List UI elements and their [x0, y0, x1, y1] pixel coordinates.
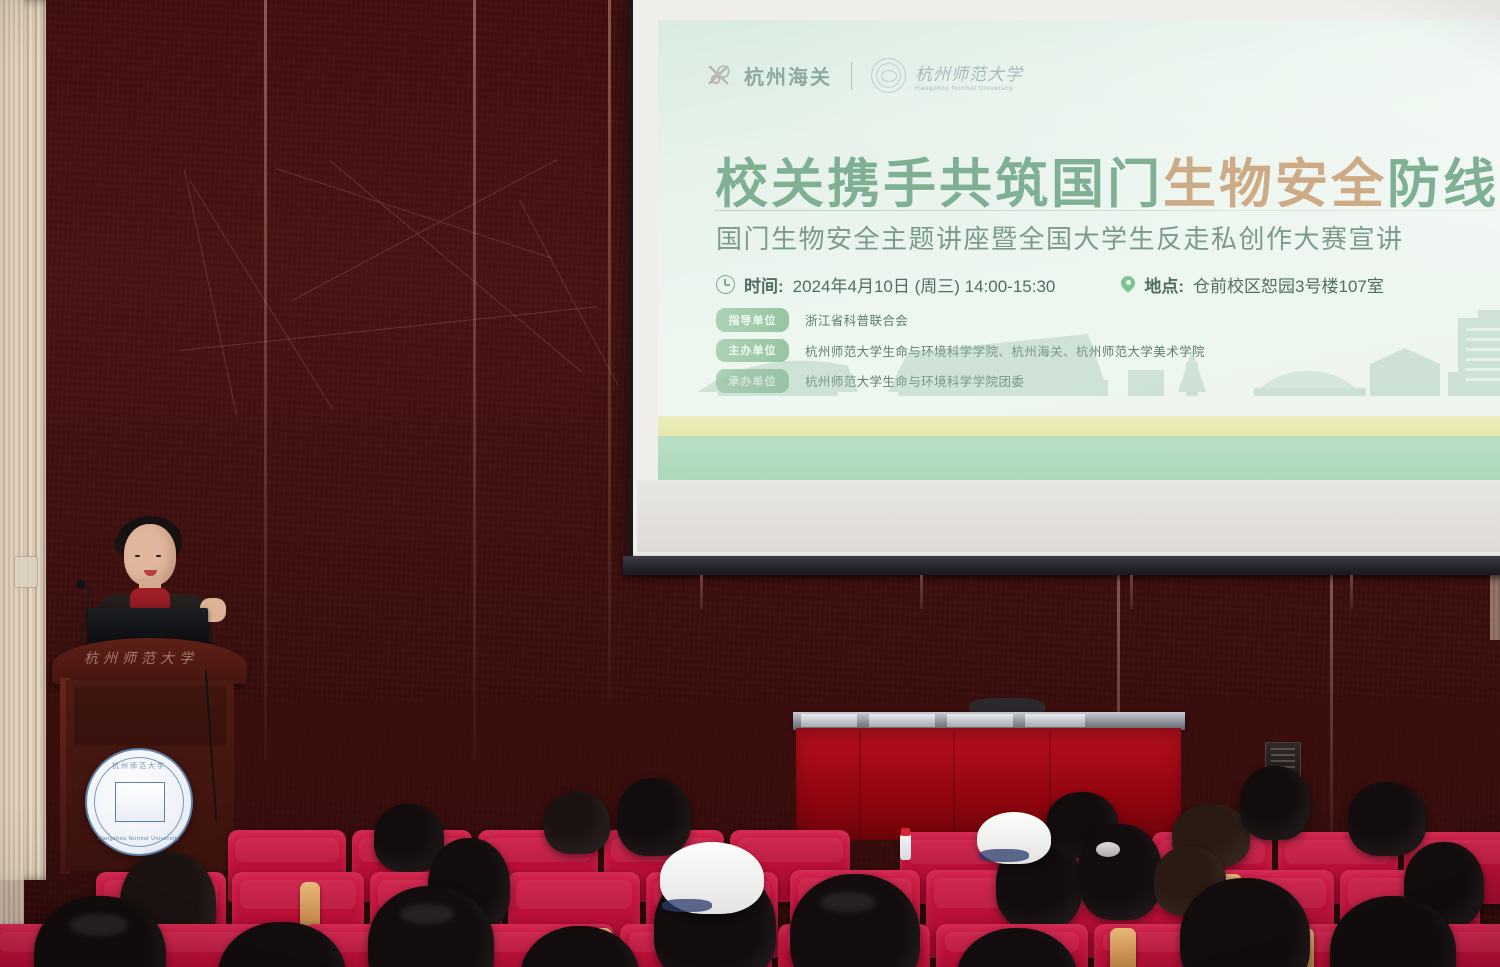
podium-engraving: 杭州师范大学	[66, 648, 216, 668]
audience-seating	[0, 746, 1500, 967]
slide-time-item: 时间:2024年4月10日 (周三) 14:00-15:30	[716, 272, 1055, 297]
title-divider-rule	[715, 210, 1495, 211]
slide-band-yellow	[658, 416, 1500, 438]
hznu-logo-label-cn: 杭州师范大学	[915, 60, 1023, 85]
hznu-logo: 杭州师范大学 Hangzhou Normal University	[871, 58, 1023, 93]
hair-accessory	[1096, 842, 1120, 857]
table-top-segment	[1025, 714, 1085, 727]
slide-band-green	[658, 436, 1500, 480]
table-top-segment	[869, 714, 935, 727]
audience-head	[544, 792, 610, 854]
location-pin-icon	[1121, 276, 1135, 294]
hangzhou-customs-logo: 杭州海关	[704, 60, 832, 91]
screen-support-leg	[700, 575, 703, 609]
audience-head	[1078, 824, 1162, 920]
logo-divider	[851, 62, 852, 90]
hznu-logo-text-group: 杭州师范大学 Hangzhou Normal University	[915, 60, 1023, 92]
baseball-cap-foreground	[660, 842, 764, 914]
place-label: 地点:	[1144, 272, 1184, 297]
lecture-hall-photo: 杭州海关 杭州师范大学 Hangzhou Normal University 国…	[0, 0, 1500, 967]
microphone-head-icon	[76, 580, 85, 589]
hair-highlight	[70, 914, 128, 936]
projection-screen: 杭州海关 杭州师范大学 Hangzhou Normal University 国…	[629, 0, 1500, 562]
slide-title-part1: 校关携手共筑国门	[715, 155, 1163, 214]
screen-blank-area	[637, 480, 1500, 552]
hair-highlight	[400, 904, 454, 924]
hair-highlight	[820, 892, 876, 912]
audience-head	[1348, 782, 1426, 856]
wall-seam	[473, 0, 476, 760]
screen-support-leg	[1350, 575, 1353, 609]
speaker-eye	[156, 555, 161, 557]
slide-title-part2: 防线	[1387, 155, 1499, 214]
seat-armrest	[1110, 928, 1136, 967]
screen-bottom-frame	[623, 556, 1500, 575]
table-top-segment	[801, 714, 857, 727]
time-value: 2024年4月10日 (周三) 14:00-15:30	[793, 272, 1056, 297]
audience-head	[1240, 766, 1310, 840]
hznu-logo-label-en: Hangzhou Normal University	[915, 85, 1023, 92]
slide-meta-row: 时间:2024年4月10日 (周三) 14:00-15:30 地点:仓前校区恕园…	[716, 272, 1384, 297]
hznu-seal-icon	[871, 58, 906, 93]
customs-emblem-icon	[704, 60, 735, 91]
screen-support-leg	[920, 575, 923, 609]
baseball-cap	[977, 812, 1051, 864]
clock-icon	[716, 275, 735, 294]
time-label: 时间:	[744, 272, 784, 297]
table-top-segment	[947, 714, 1013, 727]
screen-support-leg	[1130, 575, 1133, 609]
wall-seam	[608, 0, 611, 700]
slide-title: 校关携手共筑国门生物安全防线	[715, 142, 1499, 218]
slide-title-accent: 生物安全	[1163, 155, 1387, 214]
wall-outlet	[14, 556, 38, 588]
audience-head	[617, 778, 691, 856]
place-value: 仓前校区恕园3号楼107室	[1193, 272, 1384, 297]
presentation-slide: 杭州海关 杭州师范大学 Hangzhou Normal University 国…	[658, 20, 1500, 480]
speaker-eye	[135, 555, 140, 557]
slide-place-item: 地点:仓前校区恕园3号楼107室	[1121, 272, 1384, 297]
water-bottle	[900, 834, 911, 860]
customs-logo-label: 杭州海关	[744, 61, 832, 90]
speaker-head	[124, 524, 176, 586]
slide-logo-row: 杭州海关 杭州师范大学 Hangzhou Normal University	[704, 58, 1023, 93]
slide-subtitle: 国门生物安全主题讲座暨全国大学生反走私创作大赛宣讲	[716, 219, 1404, 256]
city-skyline-graphic	[658, 306, 1500, 416]
